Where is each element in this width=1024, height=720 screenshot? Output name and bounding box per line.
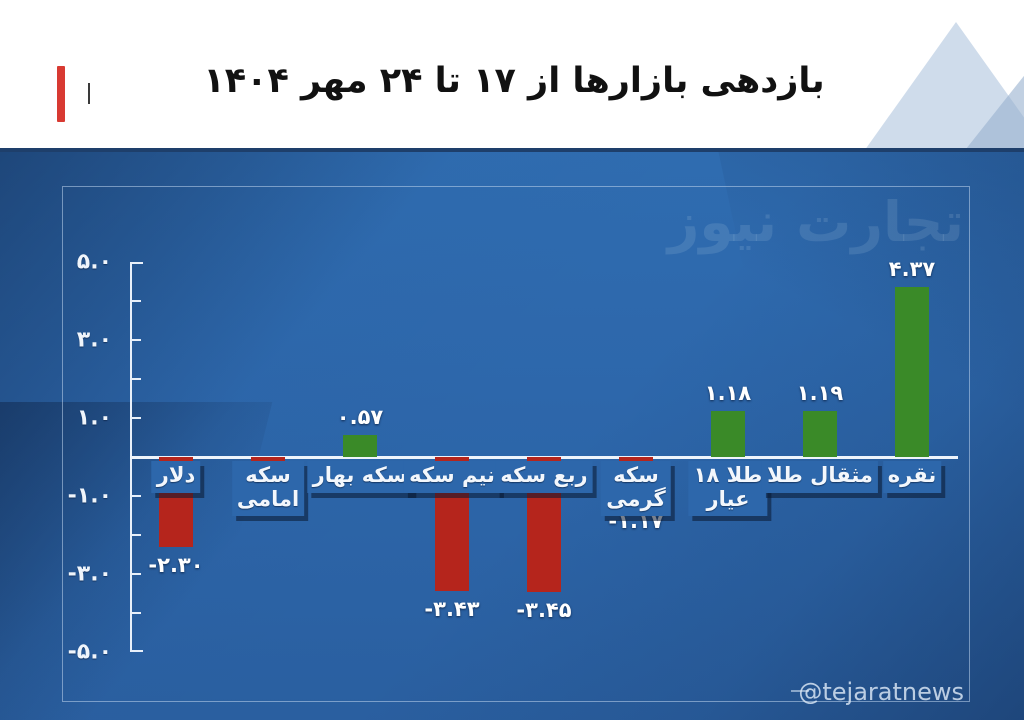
bar-value-label: -۳.۴۵ xyxy=(516,598,571,622)
y-axis-tick xyxy=(130,573,141,575)
bar-value-label: ۱.۱۹ xyxy=(797,381,843,405)
y-axis-label: -۵.۰ xyxy=(68,640,112,665)
bar-value-label: ۰.۵۷ xyxy=(337,405,383,429)
header-bar: بازدهی بازارها از ۱۷ تا ۲۴ مهر ۱۴۰۴ xyxy=(0,0,1024,152)
y-axis-label: ۳.۰ xyxy=(77,328,112,353)
category-label: سکه امامی xyxy=(232,461,304,516)
y-axis-label: -۳.۰ xyxy=(68,562,112,587)
screenshot-root: بازدهی بازارها از ۱۷ تا ۲۴ مهر ۱۴۰۴ تجار… xyxy=(0,0,1024,720)
category-label: نیم سکه xyxy=(404,461,500,493)
y-axis-tick xyxy=(130,612,141,614)
y-axis-label: ۱.۰ xyxy=(77,406,112,431)
bar-3 xyxy=(343,435,377,457)
decorative-triangle-right-icon xyxy=(962,38,1024,152)
watermark: تجارت نیوز xyxy=(668,190,964,254)
title-accent-tick xyxy=(88,83,90,104)
category-label: مثقال طلا xyxy=(762,461,878,493)
plot-area: ۵.۰۳.۰۱.۰-۱.۰-۳.۰-۵.۰-۲.۳۰دلار-۰.۱۱سکه ا… xyxy=(130,262,958,652)
header-divider xyxy=(0,148,1024,152)
category-label: سکه بهار xyxy=(308,461,413,493)
bar-value-label: -۳.۴۳ xyxy=(424,597,479,621)
bar-8 xyxy=(803,411,837,457)
title-accent-bar xyxy=(57,66,65,122)
y-axis-tick xyxy=(130,378,141,380)
y-axis-tick xyxy=(130,495,141,497)
category-label: طلا ۱۸ عیار xyxy=(689,461,768,516)
category-label: نقره xyxy=(883,461,941,493)
page-title: بازدهی بازارها از ۱۷ تا ۲۴ مهر ۱۴۰۴ xyxy=(184,60,844,104)
y-axis-tick xyxy=(130,417,141,419)
category-label: دلار xyxy=(152,461,201,493)
y-axis-tick xyxy=(130,534,141,536)
category-label: سکه گرمی xyxy=(601,461,671,516)
y-axis-cap-top xyxy=(130,262,143,264)
bar-value-label: -۲.۳۰ xyxy=(148,553,203,577)
bar-7 xyxy=(711,411,745,457)
y-axis-label: -۱.۰ xyxy=(68,484,112,509)
category-label: ربع سکه xyxy=(495,461,592,493)
y-axis-tick xyxy=(130,300,141,302)
bar-value-label: ۴.۳۷ xyxy=(889,257,935,281)
social-handle: @tejaratnews xyxy=(798,678,964,706)
y-axis-cap-bottom xyxy=(130,650,143,652)
bar-9 xyxy=(895,287,929,457)
chart-panel: تجارت نیوز @tejaratnews ۵.۰۳.۰۱.۰-۱.۰-۳.… xyxy=(0,152,1024,720)
y-axis-tick xyxy=(130,339,141,341)
bar-value-label: ۱.۱۸ xyxy=(705,381,751,405)
y-axis-label: ۵.۰ xyxy=(77,250,112,275)
